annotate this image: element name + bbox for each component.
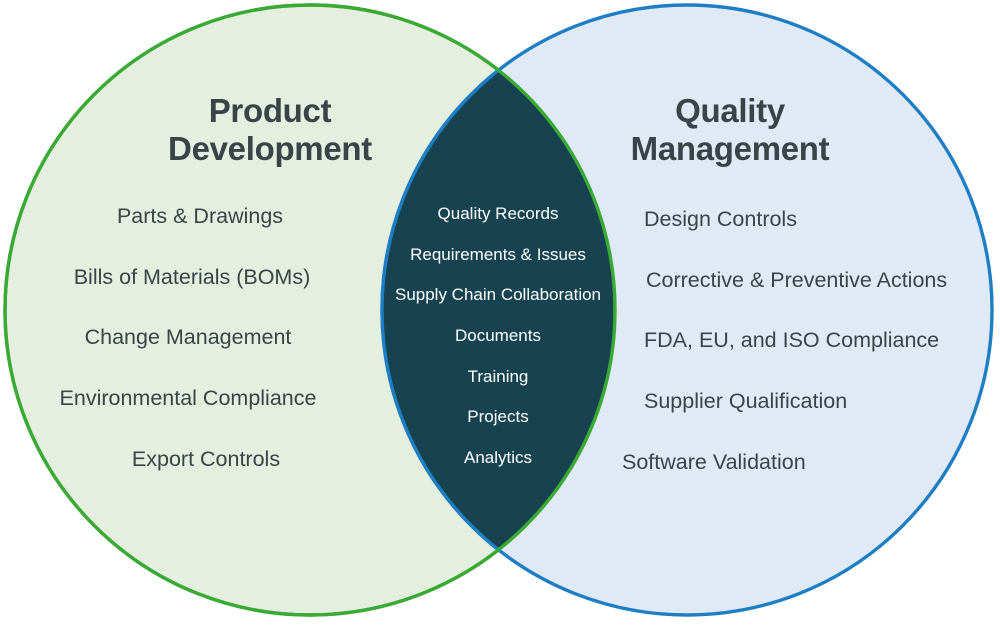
list-item: Supplier Qualification — [622, 390, 1000, 414]
list-item: Environmental Compliance — [0, 387, 376, 411]
list-item: Parts & Drawings — [0, 205, 376, 229]
list-item: Analytics — [464, 449, 532, 468]
right-only-list: Design Controls Corrective & Preventive … — [622, 208, 1000, 511]
right-circle-title: Quality Management — [560, 92, 900, 169]
list-item: Design Controls — [622, 208, 1000, 232]
intersection-list: Quality Records Requirements & Issues Su… — [378, 205, 618, 490]
list-item: Export Controls — [0, 448, 376, 472]
list-item: Documents — [455, 327, 541, 346]
list-item: Quality Records — [438, 205, 559, 224]
list-item: Software Validation — [622, 451, 1000, 475]
list-item: Change Management — [0, 326, 376, 350]
list-item: FDA, EU, and ISO Compliance — [622, 329, 1000, 353]
venn-diagram: Product Development Quality Management P… — [0, 0, 1000, 625]
list-item: Supply Chain Collaboration — [395, 286, 601, 305]
list-item: Bills of Materials (BOMs) — [0, 266, 376, 290]
list-item: Requirements & Issues — [410, 246, 586, 265]
left-circle-title: Product Development — [120, 92, 420, 169]
list-item: Training — [468, 368, 529, 387]
list-item: Projects — [467, 408, 528, 427]
list-item: Corrective & Preventive Actions — [622, 269, 1000, 293]
left-only-list: Parts & Drawings Bills of Materials (BOM… — [0, 205, 376, 508]
